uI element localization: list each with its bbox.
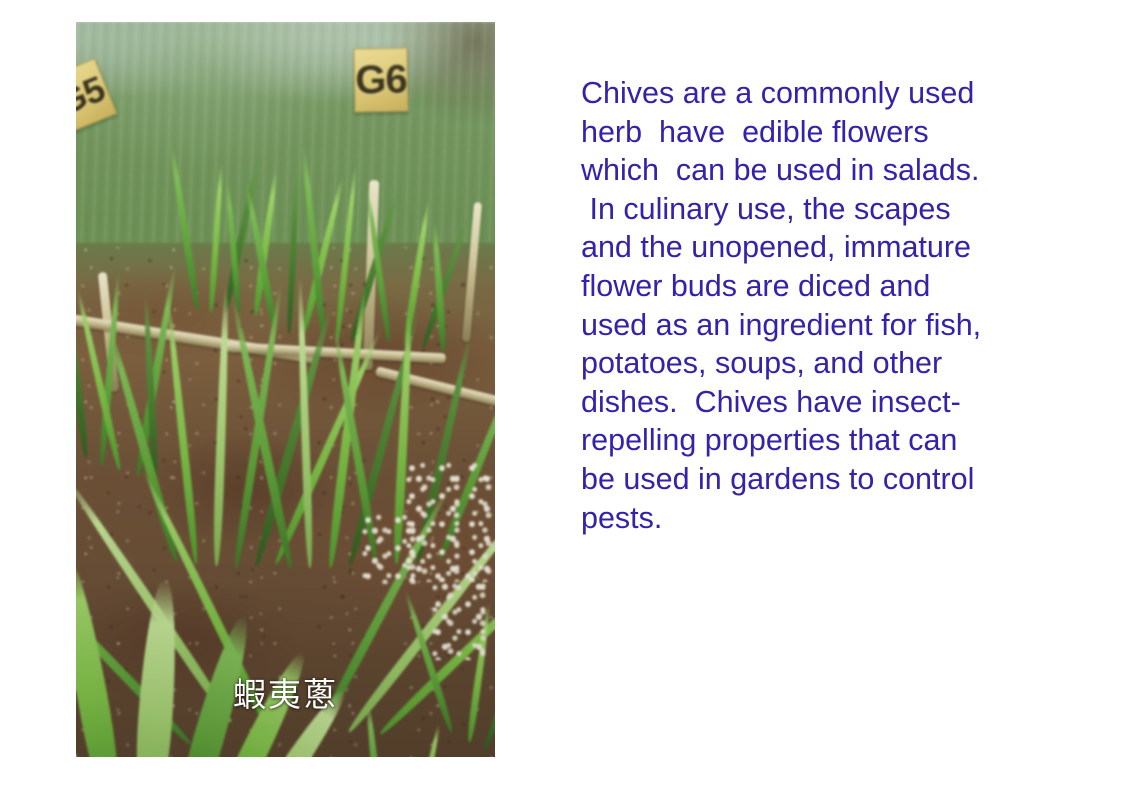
text-line: and the unopened, immature — [581, 230, 971, 264]
text-line: In culinary use, the scapes — [581, 192, 951, 226]
text-line: be used in gardens to control — [581, 462, 974, 496]
text-line: potatoes, soups, and other — [581, 346, 942, 380]
chives-photo: G6 G5 — [76, 22, 495, 757]
text-line: Chives are a commonly used — [581, 76, 974, 110]
photo-color-tint — [76, 22, 495, 757]
chives-description-text: Chives are a commonly usedherb have edib… — [581, 74, 1033, 537]
text-line: used as an ingredient for fish, — [581, 308, 981, 342]
photo-caption: 蝦夷蔥 — [76, 668, 495, 716]
text-line: which can be used in salads. — [581, 153, 979, 187]
text-line: pests. — [581, 501, 662, 535]
text-line: dishes. Chives have insect- — [581, 385, 961, 419]
text-line: repelling properties that can — [581, 423, 957, 457]
text-line: herb have edible flowers — [581, 115, 929, 149]
text-line: flower buds are diced and — [581, 269, 930, 303]
